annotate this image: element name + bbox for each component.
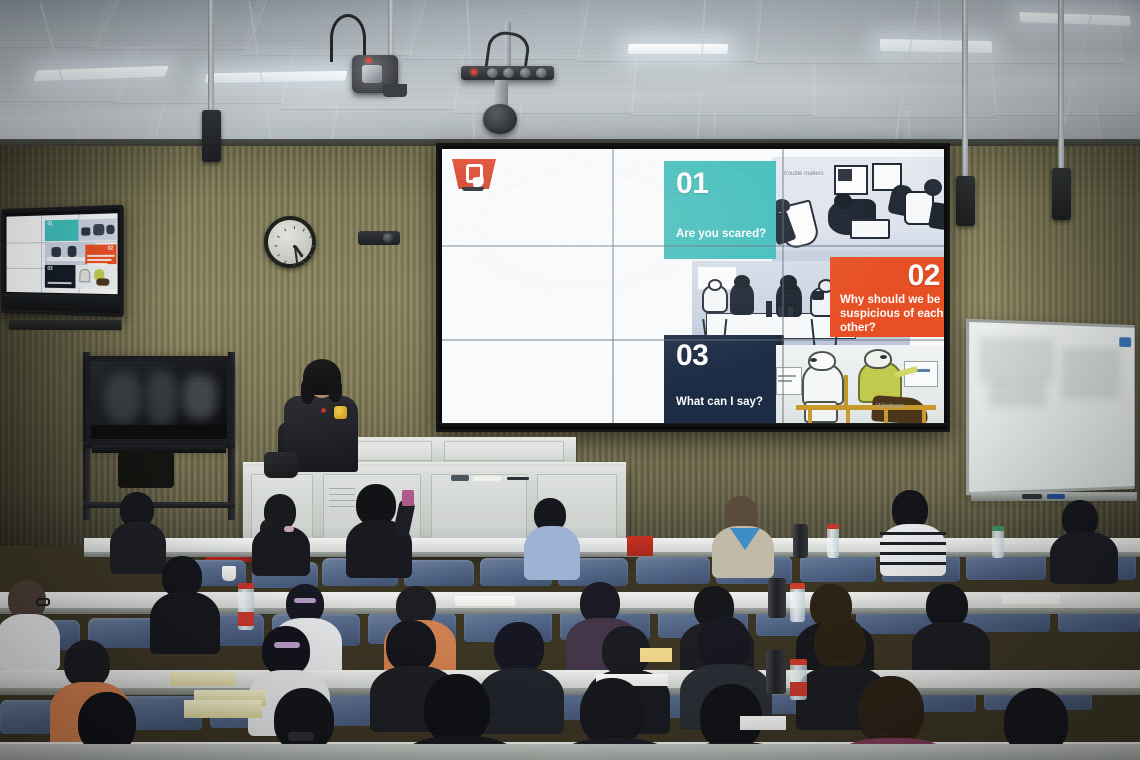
wall-camera-lens-icon [383,233,394,243]
video-wall-seam-v1 [612,149,614,423]
water-bottle [827,528,839,558]
water-bottle [992,530,1004,558]
av-cart-monitor [86,356,232,444]
presentation-slide: trouble makers [442,149,944,423]
video-wall-seam-h1 [442,245,944,247]
cable-on-lectern [507,477,529,480]
wall-clock [264,216,316,268]
hair-tie [288,732,314,741]
block-02-question: Why should we be suspicious of each othe… [840,293,944,335]
block-01-number: 01 [676,169,776,199]
eyeglasses [36,598,50,606]
camera-indicator-led [366,58,371,63]
ceiling-speaker-right [956,176,975,226]
speaker-rod-mid [388,0,394,58]
desk-card [627,536,653,556]
camera-housing [383,84,407,97]
speaker-rod-left [208,0,214,112]
video-wall-screen: trouble makers [442,149,944,423]
whiteboard-magnet [1119,337,1131,347]
lecture-hall-photo: 01 02 [0,0,1140,760]
smartphone [402,490,414,506]
repeater-bezel [5,293,120,313]
speaker-rod-far-right [1058,0,1064,172]
projector-power-led [471,69,477,75]
repeater-slide-mirror: 01 02 [7,213,118,294]
clock-center-pin [293,245,296,248]
organization-logo-icon [452,159,496,189]
water-bottle [790,588,805,622]
ceiling-speaker-far-right [1052,168,1071,220]
video-wall-base-bezel [439,423,947,429]
handout-paper [740,716,786,730]
ceiling-light-4 [880,39,993,53]
slide-block-02: 02 Why should we be suspicious of each o… [830,257,944,337]
paper-cup [222,566,236,581]
whiteboard [966,319,1135,496]
whiteboard-marker-blue [1047,494,1065,499]
camera-lens-icon [362,65,382,83]
block-02-number: 02 [908,261,940,291]
repeater-mount-bracket [9,320,122,330]
slide-block-03: 03 What can I say? [664,335,776,423]
mini-block-02: 02 [85,244,117,264]
hair-clip [294,598,316,603]
thermos-flask [793,524,808,558]
handout-paper [455,596,515,606]
handout-paper [1002,594,1060,604]
mini-cartoon-01 [78,219,116,241]
cartoon-03-caption: Windows [876,403,904,410]
main-video-wall: trouble makers [436,143,950,432]
cartoon-section-03: Windows [772,345,944,423]
projector-lens-icon [483,104,517,134]
clock-face [268,220,312,264]
notebook [170,672,236,686]
block-01-question: Are you scared? [676,227,766,241]
av-monitor-screen [91,361,227,439]
block-03-number: 03 [676,341,776,371]
textbook [184,700,262,718]
video-wall-seam-h2 [442,339,944,341]
mini-block-01: 01 [45,220,78,241]
lecturer-bag [264,452,298,478]
block-03-question: What can I say? [676,395,763,409]
whiteboard-marker-black [1022,494,1042,499]
thermos-flask [768,578,786,618]
thermos-flask [766,650,786,694]
repeater-screen: 01 02 [7,213,118,294]
hair-clip [274,642,300,648]
ceiling-light-3 [627,44,728,54]
mini-cartoon-03 [76,265,117,289]
speaker-rod-right [962,0,968,180]
video-wall-seam-v2 [782,149,784,423]
cartoon-section-01: trouble makers [772,157,944,265]
papers-on-lectern [473,476,501,481]
front-desk-surface [0,744,1140,760]
cart-lower-equipment [118,452,174,488]
lecturer [284,360,358,472]
mini-block-03: 03 [45,265,76,289]
wall-mounted-repeater-display: 01 02 [1,205,124,318]
ceiling [0,0,1140,152]
handout-paper [640,648,672,662]
lecturer-badge [334,406,347,419]
ceiling-speaker-left [202,110,221,162]
cartoon-01-caption: trouble makers [784,171,824,177]
remote-control [451,475,469,481]
